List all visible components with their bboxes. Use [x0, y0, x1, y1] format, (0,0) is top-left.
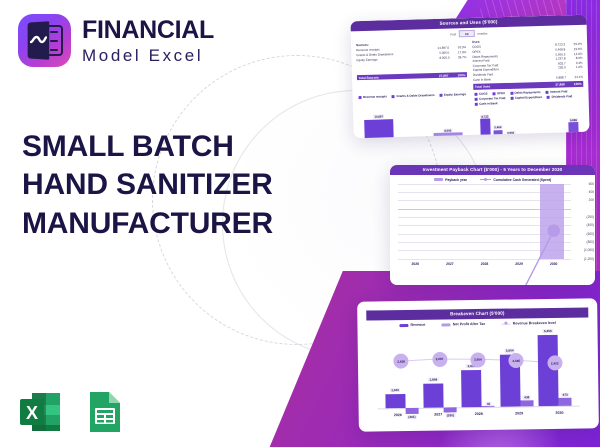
legend-line-icon: [480, 179, 491, 180]
bar-label: (330): [445, 413, 455, 418]
bar-revenue: 1,040: [385, 394, 405, 409]
bar-revenue: 2,819: [462, 370, 483, 408]
card-investment-payback[interactable]: Investment Payback Chart ($'000) - 5 Yea…: [390, 165, 595, 285]
legend-swatch-icon: [399, 324, 408, 327]
bar-label: 5,356: [542, 329, 553, 334]
bar: 5,000: [398, 110, 429, 138]
brand-logo: FINANCIAL Model Excel: [18, 14, 214, 67]
sources-table: Sources: Revenue receipts 14,897.0 53.3%…: [356, 40, 467, 92]
breakeven-bubble: 2,585: [509, 353, 524, 368]
brand-subtitle: Model Excel: [82, 47, 214, 64]
payback-plot-area: 600 400 200 - (200) (400) (600) (800) (1…: [398, 184, 571, 259]
bar-net-profit: 438: [520, 400, 533, 406]
bar-group: 1,848 (330): [421, 331, 458, 409]
legend-swatch-icon: [441, 323, 450, 326]
bar-group: 3,904 438: [498, 329, 535, 407]
bar-label: 1,848: [428, 377, 439, 382]
page-title: SMALL BATCH HAND SANITIZER MANUFACTURER: [22, 128, 312, 243]
legend-item-revenue: Revenue: [399, 323, 426, 327]
uses-table: Uses: COGS 8,723.3 29.2% OPEX 5,468.8 19…: [472, 37, 583, 89]
bar-revenue: 1,848: [423, 383, 443, 408]
file-format-icons: X: [18, 389, 128, 435]
legend-line-icon: [501, 323, 510, 324]
legend-item-breakeven-level: Revenue Breakeven level: [501, 321, 556, 326]
bar-label: 673: [561, 393, 569, 398]
bar: 8,723: [480, 108, 491, 138]
microsoft-excel-icon: X: [18, 389, 64, 435]
period-value[interactable]: 60: [459, 30, 475, 37]
bar-net-profit: 673: [559, 398, 572, 407]
bar-label: 438: [523, 395, 531, 400]
breakeven-plot-area: 1,040 (461) 2,636 1,848 (330) 2,697: [377, 329, 580, 410]
bar: 8,000: [433, 109, 464, 138]
bar-label: 42: [485, 402, 491, 407]
svg-text:X: X: [26, 403, 38, 423]
bar: 5,469: [493, 108, 504, 138]
payback-chart-title: Investment Payback Chart ($'000) - 5 Yea…: [390, 165, 595, 175]
bar-net-profit: 42: [482, 406, 495, 407]
wave-icon: [30, 35, 47, 44]
period-suffix: months: [477, 31, 487, 35]
bar-label: (461): [407, 415, 417, 420]
bar: 3,950: [505, 108, 516, 139]
financial-model-excel-logo-icon: [18, 14, 71, 67]
bar-group: 2,819 42: [459, 330, 496, 408]
brand-title: FINANCIAL: [82, 18, 214, 43]
bar: 14,897: [364, 111, 395, 138]
bar-label: 1,040: [390, 388, 401, 393]
card-breakeven[interactable]: Breakeven Chart ($'000) Revenue Net Prof…: [357, 298, 599, 431]
card-sources-and-uses[interactable]: Sources and Uses ($'000) First 60 months…: [350, 15, 589, 139]
sources-bar-chart: 14,897 5,000 8,000: [358, 109, 469, 138]
cumulative-cash-markers: [398, 184, 571, 285]
breakeven-legend: Revenue Net Profit After Tax Revenue Bre…: [366, 317, 588, 330]
bar-net-profit: (461): [405, 408, 418, 414]
period-prefix: First: [450, 32, 456, 36]
document-lines-icon: [47, 25, 63, 56]
legend-item-cumulative-cash: Cumulative Cash Generated (Spent): [480, 178, 551, 182]
breakeven-bubble: 2,656: [470, 352, 485, 367]
legend-item-net-profit: Net Profit After Tax: [441, 322, 485, 327]
bar-group: 1,040 (461): [383, 331, 420, 409]
payback-legend: Payback year Cumulative Cash Generated (…: [390, 175, 595, 184]
bar-net-profit: (330): [444, 408, 457, 413]
sources-total-row: Total Sources 27,897 100%: [357, 72, 467, 81]
payback-y-axis: 600 400 200 - (200) (400) (600) (800) (1…: [572, 184, 594, 259]
legend-item-payback-year: Payback year: [434, 178, 467, 182]
legend-swatch-icon: [434, 178, 443, 181]
google-sheets-icon: [82, 389, 128, 435]
uses-chart-legend: COGS OPEX Debts Repayments Interest Paid…: [473, 86, 583, 106]
